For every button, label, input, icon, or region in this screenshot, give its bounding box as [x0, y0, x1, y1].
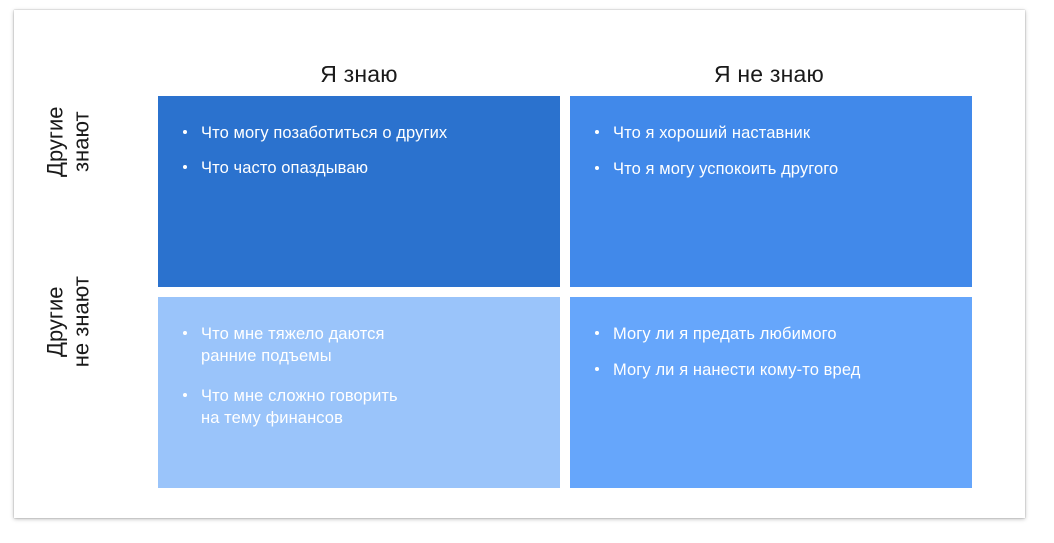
johari-window-card: Я знаю Я не знаю Другие знают Другие не …	[14, 10, 1025, 518]
list-item: Могу ли я предать любимого	[592, 323, 950, 345]
list-item: Что часто опаздываю	[180, 157, 538, 179]
quadrant-blind-list: Что я хороший наставник Что я могу успок…	[592, 122, 950, 180]
row-header-known-to-others: Другие знают	[42, 44, 93, 240]
quadrant-grid: Что могу позаботиться о других Что часто…	[158, 96, 972, 488]
column-header-unknown-to-self: Я не знаю	[566, 57, 972, 91]
list-item: Могу ли я нанести кому-то вред	[592, 359, 950, 381]
column-header-known-to-self: Я знаю	[158, 57, 560, 91]
quadrant-unknown-list: Могу ли я предать любимого Могу ли я нан…	[592, 323, 950, 381]
list-item: Что я могу успокоить другого	[592, 158, 950, 180]
quadrant-open-list: Что могу позаботиться о других Что часто…	[180, 122, 538, 179]
quadrant-hidden-list: Что мне тяжело даются ранние подъемы Что…	[180, 323, 538, 429]
list-item: Что мне сложно говорить на тему финансов	[180, 385, 538, 429]
list-item: Что я хороший наставник	[592, 122, 950, 144]
quadrant-blind-area[interactable]: Что я хороший наставник Что я могу успок…	[570, 96, 972, 287]
row-header-unknown-to-others: Другие не знают	[42, 224, 93, 420]
quadrant-unknown-area[interactable]: Могу ли я предать любимого Могу ли я нан…	[570, 297, 972, 488]
list-item: Что могу позаботиться о других	[180, 122, 538, 144]
quadrant-open-area[interactable]: Что могу позаботиться о других Что часто…	[158, 96, 560, 287]
quadrant-hidden-area[interactable]: Что мне тяжело даются ранние подъемы Что…	[158, 297, 560, 488]
list-item: Что мне тяжело даются ранние подъемы	[180, 323, 538, 367]
